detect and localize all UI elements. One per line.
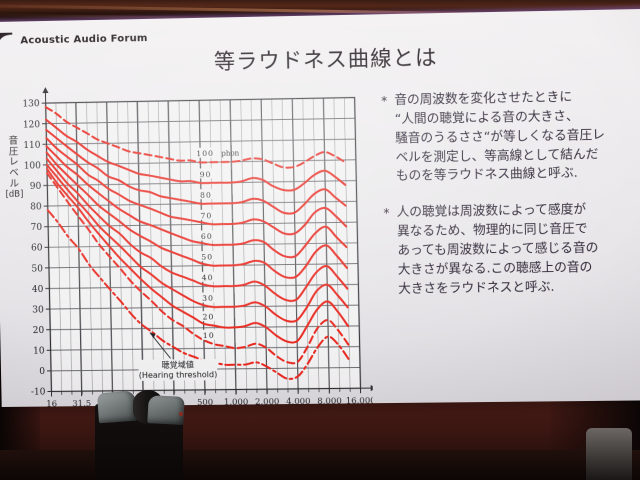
svg-text:-10: -10 xyxy=(31,388,46,398)
svg-text:90: 90 xyxy=(30,182,42,192)
foreground-indicator-dot xyxy=(179,412,183,416)
svg-text:4,000: 4,000 xyxy=(286,396,311,406)
svg-text:20: 20 xyxy=(33,326,45,336)
screenshot-stage: Acoustic Audio Forum 等ラウドネス曲線とは 音 圧 レ ベ … xyxy=(0,0,640,480)
svg-text:130: 130 xyxy=(22,99,40,109)
bullet-text-2: 人の聴覚は周波数によって感度が 異なるため、物理的に同じ音圧で あっても周波数に… xyxy=(396,200,599,298)
svg-text:60: 60 xyxy=(31,244,43,254)
svg-text:31.5: 31.5 xyxy=(72,398,91,408)
foreground-chair-backrest-left xyxy=(97,391,137,424)
phon-unit-label: phon xyxy=(221,150,240,158)
svg-text:50: 50 xyxy=(31,264,43,274)
curve-label: 10 xyxy=(203,331,215,340)
svg-text:1,000: 1,000 xyxy=(224,396,248,406)
curve-label: 40 xyxy=(202,273,214,282)
svg-text:16: 16 xyxy=(46,398,57,408)
brand-logo: Acoustic Audio Forum xyxy=(0,29,148,51)
svg-text:10: 10 xyxy=(33,347,45,357)
equal-loudness-chart: -1001020304050607080901001101201301631.5… xyxy=(3,75,373,412)
bullet-marker: * xyxy=(383,203,391,298)
slide-surface: Acoustic Audio Forum 等ラウドネス曲線とは 音 圧 レ ベ … xyxy=(0,9,640,407)
curve-label: 50 xyxy=(201,253,213,262)
svg-text:70: 70 xyxy=(31,223,43,233)
bullet-list: * 音の周波数を変化させたときに “人間の聴覚による音の大きさ、 騒音のうるささ… xyxy=(381,86,640,316)
bullet-2-line-2: あっても周波数によって感じる音の xyxy=(397,238,598,260)
curve-label: 80 xyxy=(200,190,212,199)
svg-text:2,000: 2,000 xyxy=(255,396,280,406)
brand-logo-text: Acoustic Audio Forum xyxy=(20,33,147,47)
bullet-text-1: 音の周波数を変化させたときに “人間の聴覚による音の大きさ、 騒音のうるささ“が… xyxy=(394,87,606,186)
curve-label: 100 xyxy=(196,149,214,158)
curve-label: 60 xyxy=(201,232,213,241)
svg-text:100: 100 xyxy=(24,161,42,171)
hearing-threshold-label-en: (Hearing threshold) xyxy=(139,370,218,380)
curve-label: 20 xyxy=(202,313,214,322)
svg-text:16,000: 16,000 xyxy=(346,395,373,405)
svg-text:40: 40 xyxy=(32,285,44,295)
svg-text:120: 120 xyxy=(23,120,41,130)
bullet-2-line-4: 大きさをラウドネスと呼ぶ. xyxy=(398,277,599,299)
svg-text:80: 80 xyxy=(30,202,42,212)
curve-label: 90 xyxy=(200,170,212,179)
bullet-item-1: * 音の周波数を変化させたときに “人間の聴覚による音の大きさ、 騒音のうるささ… xyxy=(381,86,640,186)
hearing-threshold-label-jp: 聴覚域値 xyxy=(162,359,194,369)
chart-canvas: -1001020304050607080901001101201301631.5… xyxy=(3,75,373,412)
svg-text:0: 0 xyxy=(39,367,45,377)
bullet-item-2: * 人の聴覚は周波数によって感度が 異なるため、物理的に同じ音圧で あっても周波… xyxy=(383,199,640,298)
triangle-logo-mark-icon xyxy=(0,32,17,51)
svg-text:110: 110 xyxy=(23,141,41,151)
foreground-chair-backrest-right xyxy=(147,395,184,425)
foreground-right-object xyxy=(586,428,632,480)
svg-text:500: 500 xyxy=(197,397,213,407)
page-title: 等ラウドネス曲線とは xyxy=(214,41,438,75)
bullet-2-line-3: 大きさが異なる.この聴感上の音の xyxy=(398,257,599,279)
curve-label: 70 xyxy=(200,211,212,220)
svg-text:周波数 [Hz]: 周波数 [Hz] xyxy=(310,406,357,412)
svg-text:30: 30 xyxy=(32,305,44,315)
svg-text:8,000: 8,000 xyxy=(317,395,342,405)
curve-label: 30 xyxy=(202,294,214,303)
bullet-1-line-4: ものを等ラウドネス曲線と呼ぶ. xyxy=(396,163,606,185)
projection-screen: Acoustic Audio Forum 等ラウドネス曲線とは 音 圧 レ ベ … xyxy=(0,9,640,432)
bullet-marker: * xyxy=(381,91,389,186)
